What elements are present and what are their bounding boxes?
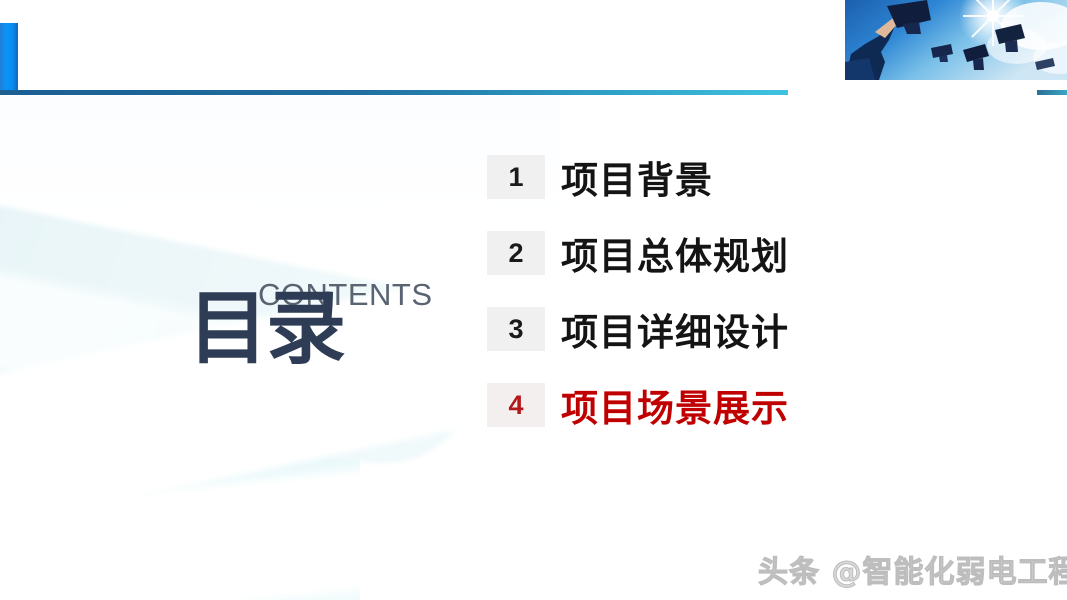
graduation-caps-sky-photo bbox=[845, 0, 1067, 80]
agenda-item-label: 项目场景展示 bbox=[561, 378, 789, 432]
header-divider-line-right bbox=[1037, 90, 1067, 95]
background-white-wedge-lower bbox=[0, 447, 582, 600]
watermark-text: 头条 @智能化弱电工程 bbox=[758, 547, 1067, 591]
agenda-list: 1 项目背景 2 项目总体规划 3 项目详细设计 4 项目场景展示 bbox=[487, 155, 917, 459]
photo-artwork bbox=[845, 0, 1067, 80]
agenda-item-2[interactable]: 2 项目总体规划 bbox=[487, 231, 917, 275]
agenda-item-1[interactable]: 1 项目背景 bbox=[487, 155, 917, 199]
contents-heading-group: CONTENTS 目录 bbox=[188, 275, 428, 400]
background-top-wash bbox=[0, 96, 560, 216]
contents-chinese-label: 目录 bbox=[188, 289, 344, 369]
header-divider-line bbox=[0, 90, 788, 95]
agenda-number-badge: 2 bbox=[487, 231, 545, 275]
agenda-number-badge: 1 bbox=[487, 155, 545, 199]
agenda-item-label: 项目详细设计 bbox=[561, 302, 789, 356]
agenda-item-label: 项目总体规划 bbox=[561, 226, 789, 280]
agenda-item-label: 项目背景 bbox=[561, 150, 713, 204]
agenda-number-badge: 3 bbox=[487, 307, 545, 351]
agenda-item-3[interactable]: 3 项目详细设计 bbox=[487, 307, 917, 351]
agenda-item-4[interactable]: 4 项目场景展示 bbox=[487, 383, 917, 427]
header-accent-bar bbox=[0, 23, 18, 92]
agenda-number-badge: 4 bbox=[487, 383, 545, 427]
slide-canvas: CONTENTS 目录 1 项目背景 2 项目总体规划 3 项目详细设计 4 项… bbox=[0, 0, 1067, 600]
